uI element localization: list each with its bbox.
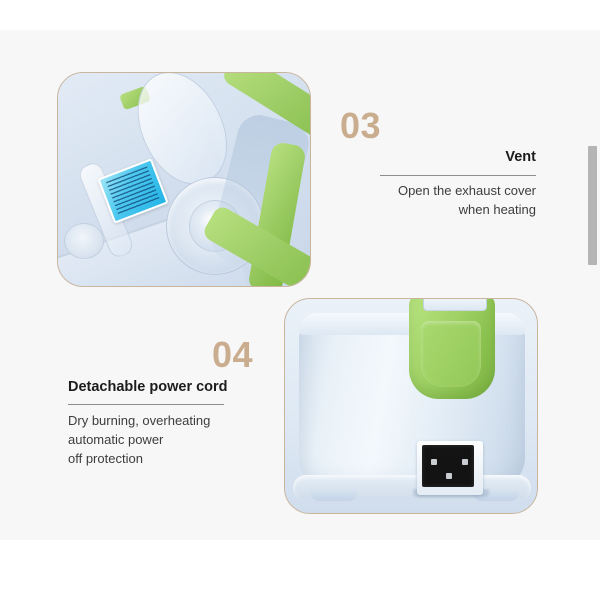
side-knob-shape — [64, 223, 104, 259]
step-description-04-line3: off protection — [68, 450, 268, 469]
green-latch-inset-shape — [421, 321, 481, 387]
step-description-04-line2: automatic power — [68, 431, 268, 450]
step-title-03: Vent — [360, 149, 536, 166]
vent-photo-scene — [58, 73, 310, 286]
step-divider-04 — [68, 404, 224, 405]
socket-pin-right — [462, 459, 468, 465]
page-scrollbar-track[interactable] — [592, 0, 600, 600]
warning-sticker-text-lines — [106, 166, 160, 215]
socket-pin-left — [431, 459, 437, 465]
latch-grip-shape — [423, 298, 487, 311]
product-photo-power-cord — [284, 298, 538, 514]
step-divider-03 — [380, 175, 536, 176]
step-number-03: 03 — [340, 108, 381, 144]
step-description-03-line2: when heating — [346, 201, 536, 220]
step-description-03: Open the exhaust cover when heating — [346, 182, 536, 220]
green-handle-shape — [216, 89, 311, 287]
step-description-04-line1: Dry burning, overheating — [68, 412, 268, 431]
step-number-04: 04 — [212, 337, 253, 373]
socket-pin-ground — [446, 473, 452, 479]
page-root: 03 Vent Open the exhaust cover when heat… — [0, 0, 600, 600]
power-socket-inlet — [422, 445, 474, 487]
product-photo-vent — [57, 72, 311, 287]
step-description-03-line1: Open the exhaust cover — [346, 182, 536, 201]
page-scrollbar-thumb[interactable] — [588, 146, 597, 265]
power-cord-photo-scene — [285, 299, 537, 513]
step-title-04: Detachable power cord — [68, 379, 288, 396]
cooker-foot-left — [311, 489, 357, 501]
step-description-04: Dry burning, overheating automatic power… — [68, 412, 268, 469]
